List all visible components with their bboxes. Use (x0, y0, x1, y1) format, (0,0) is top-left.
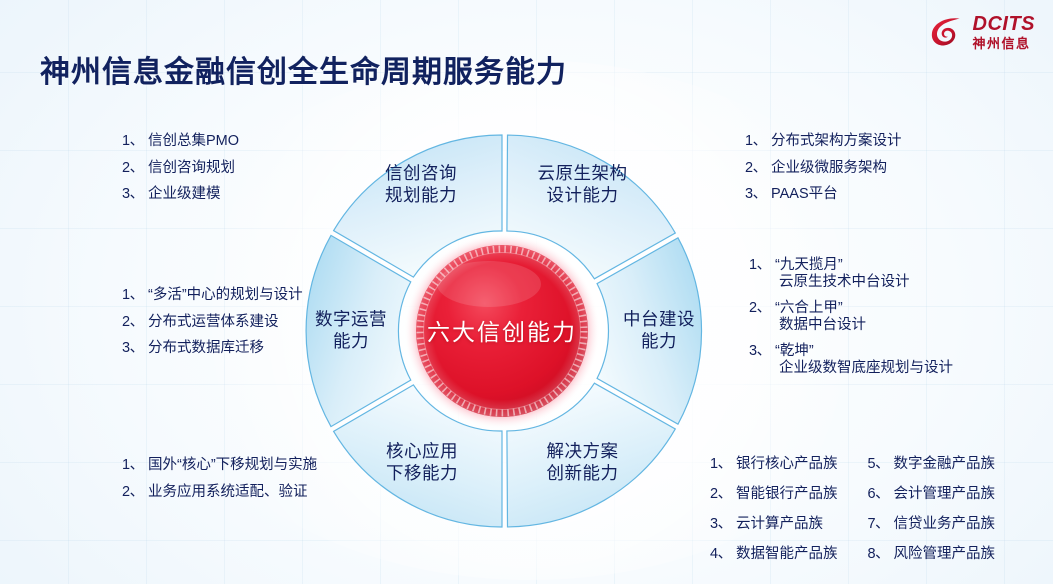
center-gloss (437, 261, 541, 307)
company-logo: DCITS 神州信息 (930, 14, 1036, 50)
list-item: 2、 “六合上甲” (749, 301, 953, 316)
list-item-text: 数据智能产品族 (736, 542, 838, 563)
list-item: 1、 “多活”中心的规划与设计 (122, 288, 303, 303)
list-item-text: 信创总集PMO (148, 134, 239, 149)
list-item: 7、 信贷业务产品族 (868, 512, 996, 533)
list-item-number: 2、 (710, 482, 736, 503)
logo-wordmark: DCITS 神州信息 (973, 14, 1036, 50)
list-item-number: 1、 (122, 458, 148, 473)
list-item-text: 国外“核心”下移规划与实施 (148, 458, 317, 473)
list-item-number: 3、 (745, 187, 771, 202)
list-item-number: 1、 (710, 452, 736, 473)
list-item-number: 3、 (122, 187, 148, 202)
list-item-text: 云计算产品族 (736, 512, 823, 533)
list-item-subtext: 企业级数智底座规划与设计 (779, 361, 953, 376)
list-item-text: 业务应用系统适配、验证 (148, 485, 308, 500)
list-item-number: 2、 (122, 485, 148, 500)
list-item-text: 信创咨询规划 (148, 161, 235, 176)
list-item-number: 3、 (122, 341, 148, 356)
capability-donut-diagram: 信创咨询 规划能力 云原生架构 设计能力 中台建设 能力 解决方案 创新能力 核… (303, 132, 701, 530)
list-item: 5、 数字金融产品族 (868, 452, 996, 473)
list-bottom-right-column-2: 5、 数字金融产品族 6、 会计管理产品族 7、 信贷业务产品族 8、 风险管理… (868, 452, 996, 563)
list-mid-left: 1、 “多活”中心的规划与设计 2、 分布式运营体系建设 3、 分布式数据库迁移 (122, 288, 303, 356)
list-item-text: “乾坤” (775, 344, 814, 359)
list-item-text: 风险管理产品族 (894, 542, 996, 563)
list-item: 3、 “乾坤” (749, 344, 953, 359)
list-item: 2、 业务应用系统适配、验证 (122, 485, 317, 500)
list-item-number: 4、 (710, 542, 736, 563)
slide-canvas: 神州信息金融信创全生命周期服务能力 DCITS 神州信息 (0, 0, 1053, 584)
list-item: 1、 分布式架构方案设计 (745, 134, 902, 149)
list-item-number: 2、 (749, 301, 775, 316)
list-item-text: 企业级微服务架构 (771, 161, 887, 176)
list-item: 1、 信创总集PMO (122, 134, 239, 149)
swoosh-icon (930, 15, 966, 49)
list-item: 8、 风险管理产品族 (868, 542, 996, 563)
list-item: 2、 分布式运营体系建设 (122, 315, 303, 330)
list-item-number: 1、 (122, 288, 148, 303)
list-item-text: 分布式运营体系建设 (148, 315, 279, 330)
list-bottom-right: 1、 银行核心产品族 2、 智能银行产品族 3、 云计算产品族 4、 数据智能产… (710, 452, 995, 563)
list-item-text: “多活”中心的规划与设计 (148, 288, 303, 303)
donut-svg (303, 132, 701, 530)
list-item-number: 7、 (868, 512, 894, 533)
list-item-number: 2、 (745, 161, 771, 176)
list-item: 1、 银行核心产品族 (710, 452, 838, 473)
list-item-text: “九天揽月” (775, 258, 843, 273)
list-item-number: 1、 (745, 134, 771, 149)
list-item-number: 2、 (122, 161, 148, 176)
list-mid-right: 1、 “九天揽月” 云原生技术中台设计 2、 “六合上甲” 数据中台设计 3、 … (749, 258, 953, 387)
list-item: 3、 分布式数据库迁移 (122, 341, 303, 356)
list-item-subtext: 云原生技术中台设计 (779, 275, 953, 290)
list-item: 3、 企业级建模 (122, 187, 239, 202)
list-item-number: 5、 (868, 452, 894, 473)
list-bottom-left: 1、 国外“核心”下移规划与实施 2、 业务应用系统适配、验证 (122, 458, 317, 499)
logo-text-cn: 神州信息 (973, 37, 1036, 50)
list-top-right: 1、 分布式架构方案设计 2、 企业级微服务架构 3、 PAAS平台 (745, 134, 902, 202)
list-item: 3、 PAAS平台 (745, 187, 902, 202)
page-title: 神州信息金融信创全生命周期服务能力 (40, 47, 567, 91)
list-item-text: “六合上甲” (775, 301, 843, 316)
list-item-text: 分布式数据库迁移 (148, 341, 264, 356)
list-item-number: 2、 (122, 315, 148, 330)
list-bottom-right-column-1: 1、 银行核心产品族 2、 智能银行产品族 3、 云计算产品族 4、 数据智能产… (710, 452, 838, 563)
logo-text-en: DCITS (973, 14, 1036, 34)
list-item: 2、 企业级微服务架构 (745, 161, 902, 176)
list-item-text: PAAS平台 (771, 187, 838, 202)
list-item: 2、 信创咨询规划 (122, 161, 239, 176)
list-item-text: 数字金融产品族 (894, 452, 996, 473)
list-item: 3、 云计算产品族 (710, 512, 838, 533)
list-item-number: 1、 (749, 258, 775, 273)
list-item: 1、 “九天揽月” (749, 258, 953, 273)
list-item: 4、 数据智能产品族 (710, 542, 838, 563)
list-item-number: 1、 (122, 134, 148, 149)
list-item-text: 智能银行产品族 (736, 482, 838, 503)
list-item-number: 3、 (749, 344, 775, 359)
list-item-number: 6、 (868, 482, 894, 503)
list-item-number: 8、 (868, 542, 894, 563)
list-item-text: 分布式架构方案设计 (771, 134, 902, 149)
list-item-text: 信贷业务产品族 (894, 512, 996, 533)
list-item: 2、 智能银行产品族 (710, 482, 838, 503)
list-item-text: 会计管理产品族 (894, 482, 996, 503)
list-item-subtext: 数据中台设计 (779, 318, 953, 333)
list-item-text: 企业级建模 (148, 187, 221, 202)
list-top-left: 1、 信创总集PMO 2、 信创咨询规划 3、 企业级建模 (122, 134, 239, 202)
list-item-number: 3、 (710, 512, 736, 533)
list-item: 1、 国外“核心”下移规划与实施 (122, 458, 317, 473)
list-item-text: 银行核心产品族 (736, 452, 838, 473)
list-item: 6、 会计管理产品族 (868, 482, 996, 503)
